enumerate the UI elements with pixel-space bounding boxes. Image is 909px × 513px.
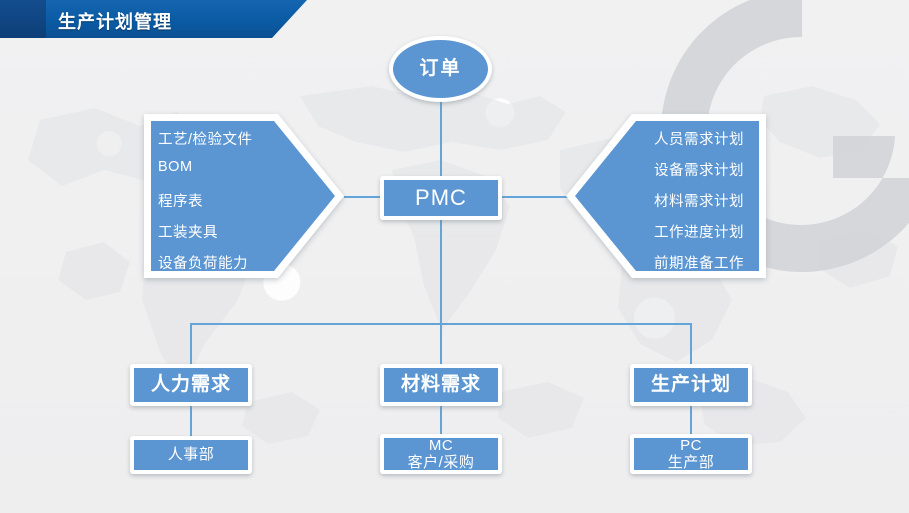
panel-outputs[interactable]: 人员需求计划 设备需求计划 材料需求计划 工作进度计划 前期准备工作 [562, 110, 770, 282]
connector-bus-drop-2 [440, 323, 442, 365]
connector-branch-3-to-dept [690, 406, 692, 434]
node-pmc-label: PMC [415, 185, 467, 210]
connector-bus-drop-3 [690, 323, 692, 365]
node-branch-category-1[interactable]: 人力需求 [130, 364, 252, 406]
node-branch-dept-3-code: PC [680, 437, 702, 454]
panel-outputs-item-2: 材料需求计划 [654, 190, 744, 211]
panel-inputs-item-3: 工装夹具 [158, 221, 218, 242]
node-branch-category-3-label: 生产计划 [651, 374, 731, 396]
panel-outputs-item-0: 人员需求计划 [654, 128, 744, 149]
connector-inputs-to-pmc [344, 196, 380, 198]
panel-outputs-item-4: 前期准备工作 [654, 252, 744, 273]
page-title: 生产计划管理 [58, 8, 172, 34]
connector-pmc-to-bus [440, 218, 442, 324]
node-branch-dept-1[interactable]: 人事部 [130, 436, 252, 474]
connector-bus-drop-1 [190, 323, 192, 365]
connector-order-to-pmc [440, 100, 442, 178]
node-branch-dept-1-label: 人事部 [168, 446, 215, 463]
panel-inputs-item-1: BOM [158, 159, 193, 175]
panel-inputs-item-0: 工艺/检验文件 [158, 128, 253, 149]
node-branch-category-3[interactable]: 生产计划 [630, 364, 752, 406]
panel-outputs-item-3: 工作进度计划 [654, 221, 744, 242]
node-branch-dept-3[interactable]: PC 生产部 [630, 434, 752, 474]
node-branch-category-2[interactable]: 材料需求 [380, 364, 502, 406]
node-branch-category-2-label: 材料需求 [401, 374, 481, 396]
panel-inputs-item-4: 设备负荷能力 [158, 252, 248, 273]
node-branch-dept-2-label: 客户/采购 [408, 454, 475, 471]
connector-branch-1-to-dept [190, 406, 192, 436]
node-branch-category-1-label: 人力需求 [151, 374, 231, 396]
node-branch-dept-2[interactable]: MC 客户/采购 [380, 434, 502, 474]
panel-outputs-item-1: 设备需求计划 [654, 159, 744, 180]
connector-branch-2-to-dept [440, 406, 442, 434]
node-branch-dept-3-label: 生产部 [668, 454, 715, 471]
slide-canvas: 生产计划管理 订单 PMC 工艺/检验文件 BOM 程序表 工装夹具 设备负荷能… [0, 0, 909, 513]
node-order-label: 订单 [419, 58, 461, 80]
node-pmc[interactable]: PMC [380, 176, 502, 220]
node-branch-dept-2-code: MC [429, 437, 453, 454]
panel-inputs-item-2: 程序表 [158, 190, 203, 211]
banner-accent-block [0, 0, 46, 38]
node-order[interactable]: 订单 [389, 36, 492, 102]
panel-inputs[interactable]: 工艺/检验文件 BOM 程序表 工装夹具 设备负荷能力 [140, 110, 348, 282]
